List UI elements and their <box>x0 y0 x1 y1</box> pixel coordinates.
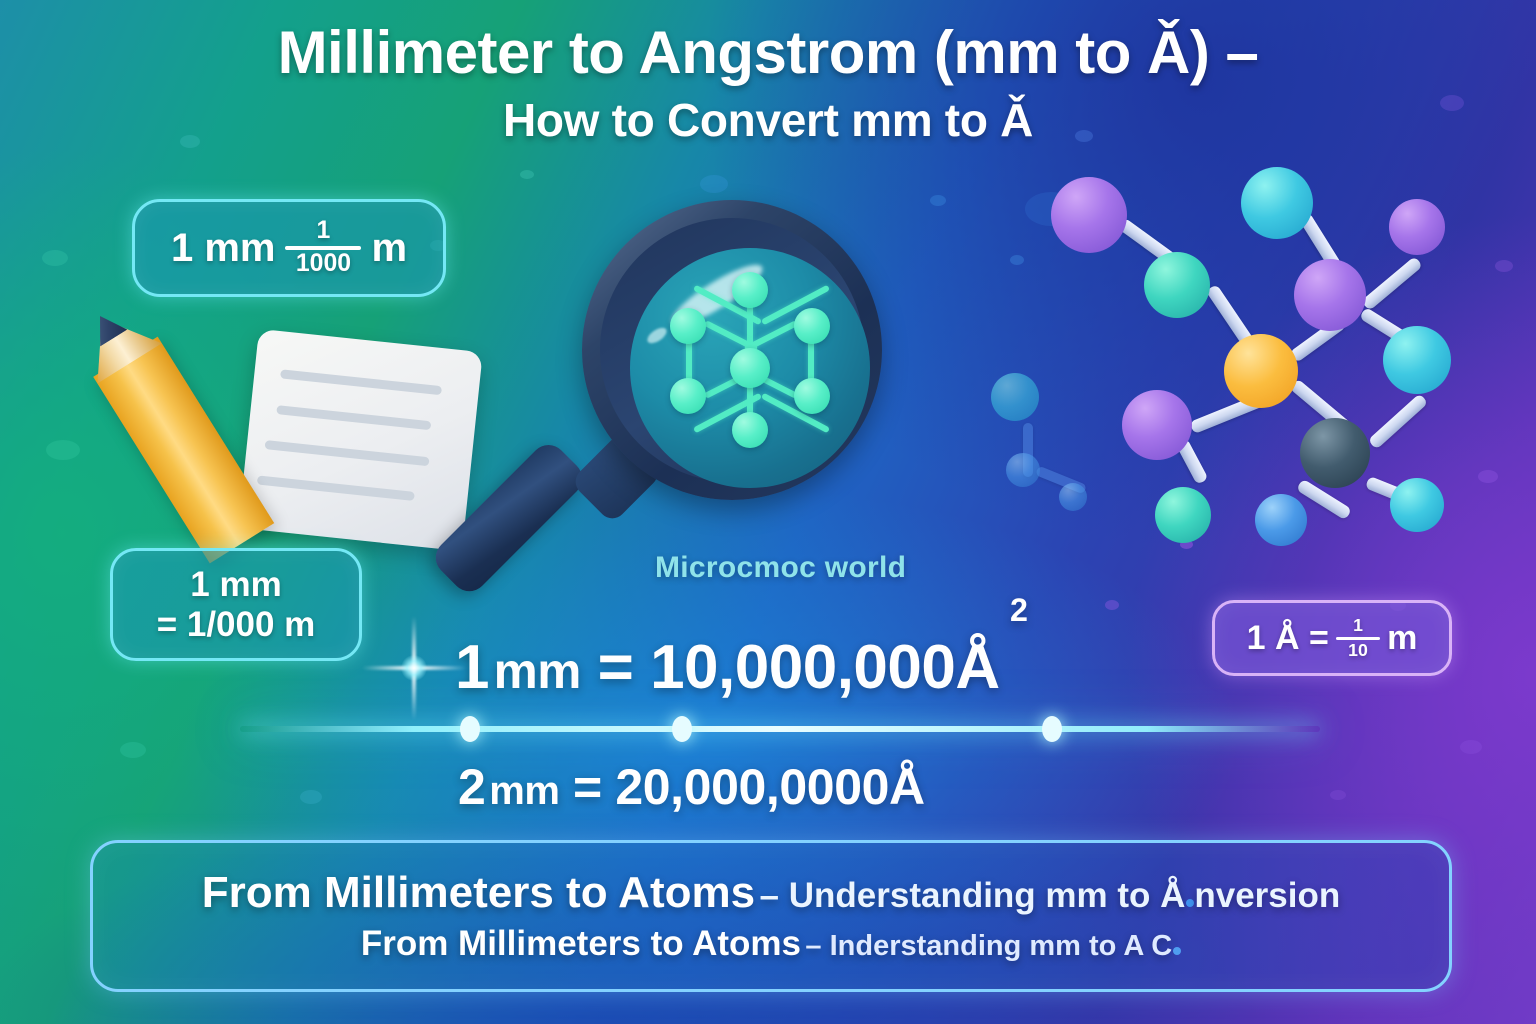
molecule-bond <box>1361 256 1423 311</box>
page-subtitle: How to Convert mm to Ǎ <box>0 96 1536 144</box>
fraction-one-over-ten: 1 10 <box>1336 617 1380 659</box>
banner-line-2-light: – Inderstanding mm to A C <box>805 930 1172 962</box>
blue-dot-artifact <box>1173 947 1181 955</box>
blue-dot-artifact <box>1186 899 1194 907</box>
badge-lead-text: 1 mm <box>171 226 276 271</box>
superscript-artifact: 2 <box>1010 592 1027 629</box>
glow-line-marker <box>1042 716 1062 742</box>
atom-blue-isolated-2 <box>1059 483 1087 511</box>
banner-line-1-light: – Understanding mm to Å <box>760 876 1186 915</box>
page-title: Millimeter to Angstrom (mm to Ǎ) – <box>0 22 1536 84</box>
magnifier-lens <box>630 248 870 488</box>
magnifier-ring <box>582 200 882 500</box>
lattice-node <box>732 272 768 308</box>
badge-lead-text: 1 Å = <box>1247 619 1329 658</box>
equation-left-unit: mm <box>494 643 581 699</box>
infographic-canvas: Millimeter to Angstrom (mm to Ǎ) – How t… <box>0 0 1536 1024</box>
lattice-node <box>732 412 768 448</box>
bottom-banner: From Millimeters to Atoms – Understandin… <box>90 840 1452 992</box>
molecule-bond <box>1368 393 1429 450</box>
lens-glare-small <box>645 325 669 346</box>
badge-trail-unit: m <box>1387 619 1417 658</box>
equation-secondary: 2 mm = 20,000,0000Å <box>458 758 925 816</box>
atom-cyan-bottom-right <box>1390 478 1444 532</box>
badge-line-1: 1 mm <box>190 565 281 604</box>
lattice-node <box>794 378 830 414</box>
equation-right-value: 10,000,000 <box>650 633 955 702</box>
equation-operator: = <box>573 759 602 815</box>
atom-purple-upper-left <box>1051 177 1127 253</box>
atom-cyan-top <box>1241 167 1313 239</box>
atom-purple-upper-right <box>1294 259 1366 331</box>
equation-right-unit: Å <box>955 633 999 702</box>
badge-trail-unit: m <box>371 226 407 271</box>
atom-teal-bottom <box>1155 487 1211 543</box>
paper-line <box>276 405 431 430</box>
glow-line-marker <box>460 716 480 742</box>
atom-blue-isolated <box>1006 453 1040 487</box>
magnifier-ring-inner <box>600 218 864 482</box>
lattice-node <box>794 308 830 344</box>
atom-blue-bottom <box>1255 494 1307 546</box>
banner-line-1-tail: nversion <box>1194 876 1340 915</box>
equation-left-value: 1 <box>455 633 489 702</box>
badge-mm-to-meter-simple: 1 mm = 1/000 m <box>110 548 362 661</box>
molecule-illustration <box>985 175 1505 585</box>
atom-purple-lower-left <box>1122 390 1192 460</box>
equation-left-unit: mm <box>489 769 559 813</box>
glow-line-marker <box>672 716 692 742</box>
lattice-node <box>730 348 770 388</box>
equation-operator: = <box>598 633 634 702</box>
paper-icon <box>238 329 483 551</box>
lattice-node <box>670 378 706 414</box>
badge-angstrom-to-meter: 1 Å = 1 10 m <box>1212 600 1452 676</box>
fraction-numerator: 1 <box>317 219 331 246</box>
paper-line <box>280 369 442 395</box>
atom-teal-mid-left <box>1144 252 1210 318</box>
paper-line <box>265 440 430 466</box>
equation-right-value: 20,000,0000 <box>615 759 889 815</box>
magnifying-glass-icon <box>520 190 920 610</box>
pencil-icon <box>68 296 273 561</box>
banner-line-2: From Millimeters to Atoms – Inderstandin… <box>361 924 1181 964</box>
banner-line-1: From Millimeters to Atoms – Understandin… <box>202 868 1341 918</box>
fraction-one-over-thousand: 1 1000 <box>285 219 361 277</box>
fraction-denominator: 1000 <box>296 250 351 277</box>
equation-left-value: 2 <box>458 759 485 815</box>
equation-right-unit: Å <box>889 759 925 815</box>
atom-cyan-isolated <box>991 373 1039 421</box>
lattice-node <box>670 308 706 344</box>
microcosmos-caption: Microcmoc world <box>655 551 906 585</box>
banner-line-1-strong: From Millimeters to Atoms <box>202 868 755 917</box>
badge-line-2: = 1/000 m <box>157 605 316 644</box>
atom-cyan-right <box>1383 326 1451 394</box>
glow-divider-line <box>240 726 1320 732</box>
atom-orange-center <box>1224 334 1298 408</box>
paper-line <box>257 475 415 500</box>
banner-line-2-strong: From Millimeters to Atoms <box>361 924 801 963</box>
fraction-numerator: 1 <box>1353 617 1363 637</box>
equation-primary: 1 mm = 10,000,000Å 2 <box>455 632 1000 703</box>
fraction-denominator: 10 <box>1348 640 1368 660</box>
title-block: Millimeter to Angstrom (mm to Ǎ) – How t… <box>0 22 1536 145</box>
atom-slate-lower-right <box>1300 418 1370 488</box>
badge-mm-to-meter-fraction: 1 mm 1 1000 m <box>132 199 446 297</box>
atom-purple-far-right <box>1389 199 1445 255</box>
